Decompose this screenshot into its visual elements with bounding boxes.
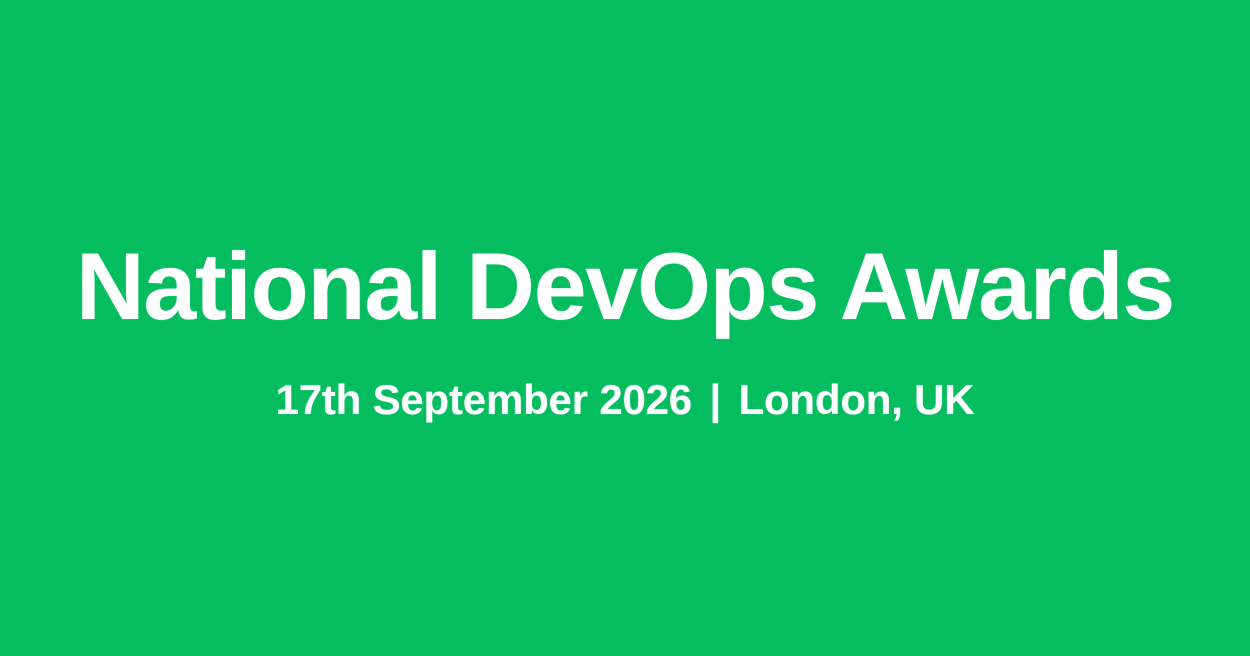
subtitle-separator: | [703,374,727,426]
event-date-location: 17th September 2026 | London, UK [0,374,1250,426]
page-title: National DevOps Awards [0,235,1250,339]
event-banner: National DevOps Awards 17th September 20… [0,0,1250,656]
event-location: London, UK [739,376,975,423]
event-date: 17th September 2026 [276,376,692,423]
banner-content: National DevOps Awards 17th September 20… [0,0,1250,656]
